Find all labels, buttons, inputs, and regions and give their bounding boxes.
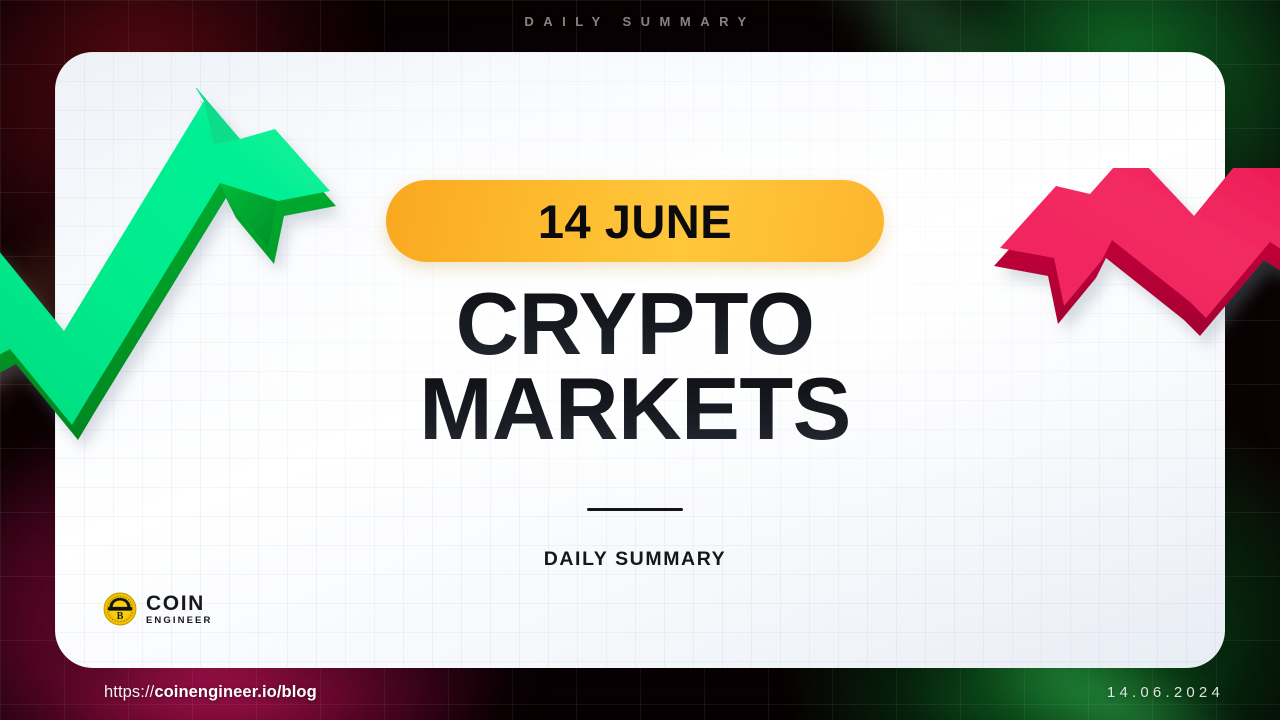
footer-date: 14.06.2024 <box>1107 684 1224 701</box>
poster-strip-title: DAILY SUMMARY <box>0 14 1280 29</box>
brand-logo[interactable]: B COIN ENGINEER <box>103 592 212 626</box>
footer-url[interactable]: https://coinengineer.io/blog <box>104 683 317 702</box>
date-badge[interactable]: 14 JUNE <box>386 180 884 262</box>
brand-logo-tagline: ENGINEER <box>146 616 212 626</box>
footer-url-scheme: https:// <box>104 683 154 701</box>
footer-url-domain: coinengineer.io/blog <box>154 683 316 701</box>
title-divider <box>587 508 683 511</box>
date-badge-label: 14 JUNE <box>538 198 732 245</box>
page-title-line-1: CRYPTO <box>419 284 851 365</box>
svg-text:B: B <box>117 611 124 622</box>
poster-canvas: DAILY SUMMARY <box>0 0 1280 720</box>
card-content: 14 JUNE CRYPTO MARKETS DAILY SUMMARY <box>330 52 940 668</box>
card-subtitle: DAILY SUMMARY <box>544 548 727 571</box>
page-title: CRYPTO MARKETS <box>419 284 851 450</box>
page-title-line-2: MARKETS <box>419 369 851 450</box>
miner-coin-icon: B <box>103 592 137 626</box>
brand-logo-text: COIN ENGINEER <box>146 593 212 626</box>
brand-logo-name: COIN <box>146 593 212 614</box>
